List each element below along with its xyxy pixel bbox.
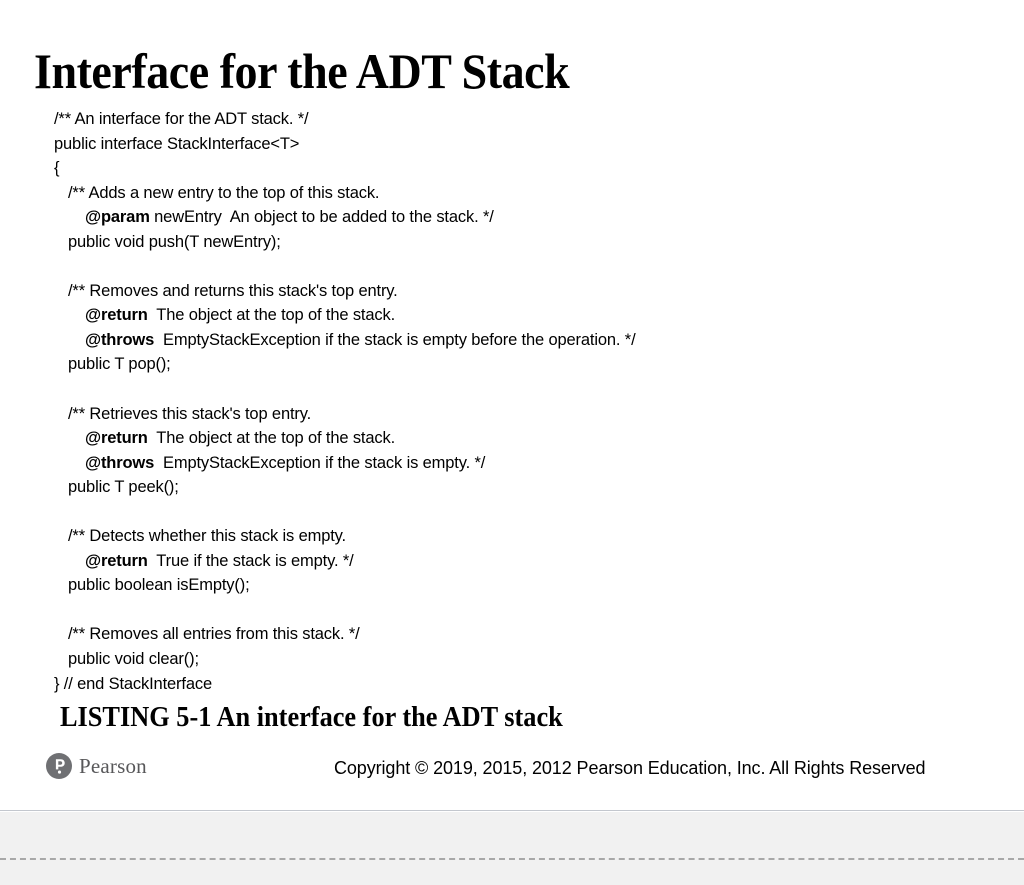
code-line: public T pop(); (54, 352, 994, 377)
code-text: EmptyStackException if the stack is empt… (154, 331, 635, 349)
code-text: /** Detects whether this stack is empty. (68, 527, 346, 545)
code-text: public void clear(); (68, 650, 199, 668)
code-blank-line (54, 598, 994, 623)
code-line: } // end StackInterface (54, 672, 994, 697)
brand-name: Pearson (79, 753, 147, 779)
javadoc-tag: @return (85, 429, 148, 447)
code-line: public T peek(); (54, 475, 994, 500)
copyright-text: Copyright © 2019, 2015, 2012 Pearson Edu… (334, 756, 925, 780)
code-line: /** Removes all entries from this stack.… (54, 622, 994, 647)
code-line: @param newEntry An object to be added to… (54, 205, 994, 230)
code-line: /** An interface for the ADT stack. */ (54, 107, 994, 132)
slide-canvas: Interface for the ADT Stack /** An inter… (0, 0, 1024, 811)
code-text: public T pop(); (68, 355, 171, 373)
page-title: Interface for the ADT Stack (34, 43, 569, 99)
javadoc-tag: @return (85, 552, 148, 570)
code-line: /** Detects whether this stack is empty. (54, 524, 994, 549)
code-listing: /** An interface for the ADT stack. */pu… (54, 107, 994, 696)
code-text: } // end StackInterface (54, 675, 212, 693)
code-text: True if the stack is empty. */ (148, 552, 354, 570)
code-text: public boolean isEmpty(); (68, 576, 250, 594)
slide-footer: Pearson Copyright © 2019, 2015, 2012 Pea… (0, 748, 1024, 794)
code-blank-line (54, 254, 994, 279)
javadoc-tag: @throws (85, 454, 154, 472)
code-blank-line (54, 377, 994, 402)
page-scroll-area (0, 812, 1024, 885)
code-text: { (54, 159, 59, 177)
brand: Pearson (46, 753, 147, 779)
code-text: /** An interface for the ADT stack. */ (54, 110, 308, 128)
code-line: @throws EmptyStackException if the stack… (54, 451, 994, 476)
code-line: @throws EmptyStackException if the stack… (54, 328, 994, 353)
code-text: public interface StackInterface<T> (54, 135, 299, 153)
code-line: { (54, 156, 994, 181)
code-text: The object at the top of the stack. (148, 429, 395, 447)
dotted-divider (0, 858, 1024, 860)
pearson-logo-icon (46, 753, 72, 779)
code-blank-line (54, 500, 994, 525)
code-line: /** Adds a new entry to the top of this … (54, 181, 994, 206)
javadoc-tag: @param (85, 208, 150, 226)
code-text: The object at the top of the stack. (148, 306, 395, 324)
code-text: /** Retrieves this stack's top entry. (68, 405, 311, 423)
code-text: /** Removes and returns this stack's top… (68, 282, 398, 300)
listing-caption: LISTING 5-1 An interface for the ADT sta… (60, 701, 563, 735)
code-text: public T peek(); (68, 478, 179, 496)
code-line: /** Retrieves this stack's top entry. (54, 402, 994, 427)
javadoc-tag: @throws (85, 331, 154, 349)
code-line: /** Removes and returns this stack's top… (54, 279, 994, 304)
code-text: public void push(T newEntry); (68, 233, 281, 251)
code-line: public void clear(); (54, 647, 994, 672)
code-text: /** Adds a new entry to the top of this … (68, 184, 379, 202)
code-text: /** Removes all entries from this stack.… (68, 625, 360, 643)
code-line: @return The object at the top of the sta… (54, 426, 994, 451)
code-line: @return True if the stack is empty. */ (54, 549, 994, 574)
code-line: public void push(T newEntry); (54, 230, 994, 255)
code-line: @return The object at the top of the sta… (54, 303, 994, 328)
code-line: public interface StackInterface<T> (54, 132, 994, 157)
code-line: public boolean isEmpty(); (54, 573, 994, 598)
javadoc-tag: @return (85, 306, 148, 324)
code-text: EmptyStackException if the stack is empt… (154, 454, 485, 472)
code-text: newEntry An object to be added to the st… (150, 208, 494, 226)
